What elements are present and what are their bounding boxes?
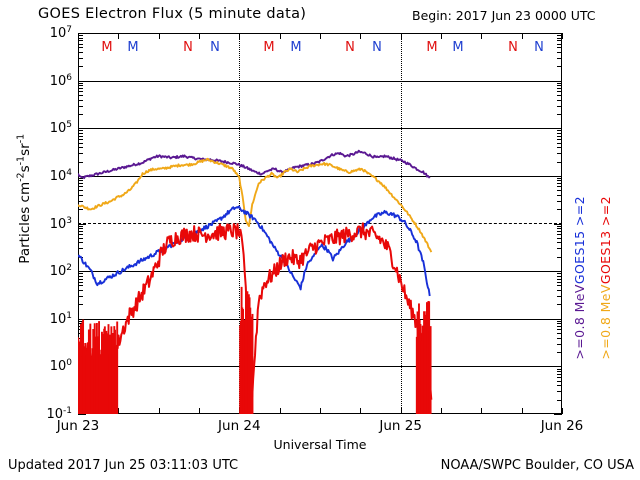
y-axis-sup-1: -2 xyxy=(15,172,26,181)
plot-area xyxy=(78,33,562,414)
legend-goes13: >=0.8 MeVGOES13 >=2 xyxy=(598,196,613,360)
event-flag-n: N xyxy=(508,40,518,55)
event-flag-n: N xyxy=(345,40,355,55)
event-flag-n: N xyxy=(372,40,382,55)
x-axis-title: Universal Time xyxy=(0,437,640,452)
event-flag-m: M xyxy=(127,40,138,55)
y-axis-major-tick xyxy=(78,414,86,415)
legend-goes15-08-label: >=0.8 MeV xyxy=(572,284,587,359)
y-axis-sup-3: -1 xyxy=(15,134,26,143)
x-tick-label: Jun 26 xyxy=(522,418,602,434)
x-tick-label: Jun 23 xyxy=(38,418,118,434)
event-flag-m: M xyxy=(290,40,301,55)
data-curves xyxy=(78,33,562,414)
legend-goes15: >=0.8 MeVGOES15 >=2 xyxy=(572,196,587,360)
begin-time-label: Begin: 2017 Jun 23 0000 UTC xyxy=(412,8,596,23)
event-flag-n: N xyxy=(210,40,220,55)
y-tick-label: 107 xyxy=(20,25,72,41)
event-flag-n: N xyxy=(534,40,544,55)
series-line-goes15-2-mev xyxy=(78,207,430,297)
event-flag-n: N xyxy=(183,40,193,55)
y-tick-label: 100 xyxy=(20,358,72,374)
legend-goes13-08-label: >=0.8 MeV xyxy=(598,284,613,359)
event-flag-m: M xyxy=(263,40,274,55)
y-axis-title-mid2: sr xyxy=(17,143,33,156)
updated-timestamp: Updated 2017 Jun 25 03:11:03 UTC xyxy=(8,458,238,473)
y-tick-label: 101 xyxy=(20,311,72,327)
legend-goes15-2-label: GOES15 >=2 xyxy=(572,196,587,284)
legend-goes13-2-label: GOES13 >=2 xyxy=(598,196,613,284)
x-tick-label: Jun 24 xyxy=(199,418,279,434)
x-axis-tick xyxy=(562,408,563,414)
event-flag-m: M xyxy=(426,40,437,55)
chart-title: GOES Electron Flux (5 minute data) xyxy=(38,6,306,22)
x-axis-tick xyxy=(562,33,563,39)
series-line-goes13-2-mev xyxy=(78,223,431,399)
event-flag-m: M xyxy=(452,40,463,55)
event-flag-m: M xyxy=(101,40,112,55)
y-axis-title-mid: s xyxy=(17,165,33,172)
y-axis-title-text: Particles cm xyxy=(17,182,33,264)
y-axis-title: Particles cm-2s-1sr-1 xyxy=(15,99,33,299)
series-line-goes15-0-8-mev xyxy=(78,151,430,178)
x-tick-label: Jun 25 xyxy=(361,418,441,434)
y-axis-sup-2: -1 xyxy=(15,156,26,165)
credit-label: NOAA/SWPC Boulder, CO USA xyxy=(441,458,634,473)
y-tick-label: 106 xyxy=(20,72,72,88)
y-axis-major-tick xyxy=(554,414,562,415)
